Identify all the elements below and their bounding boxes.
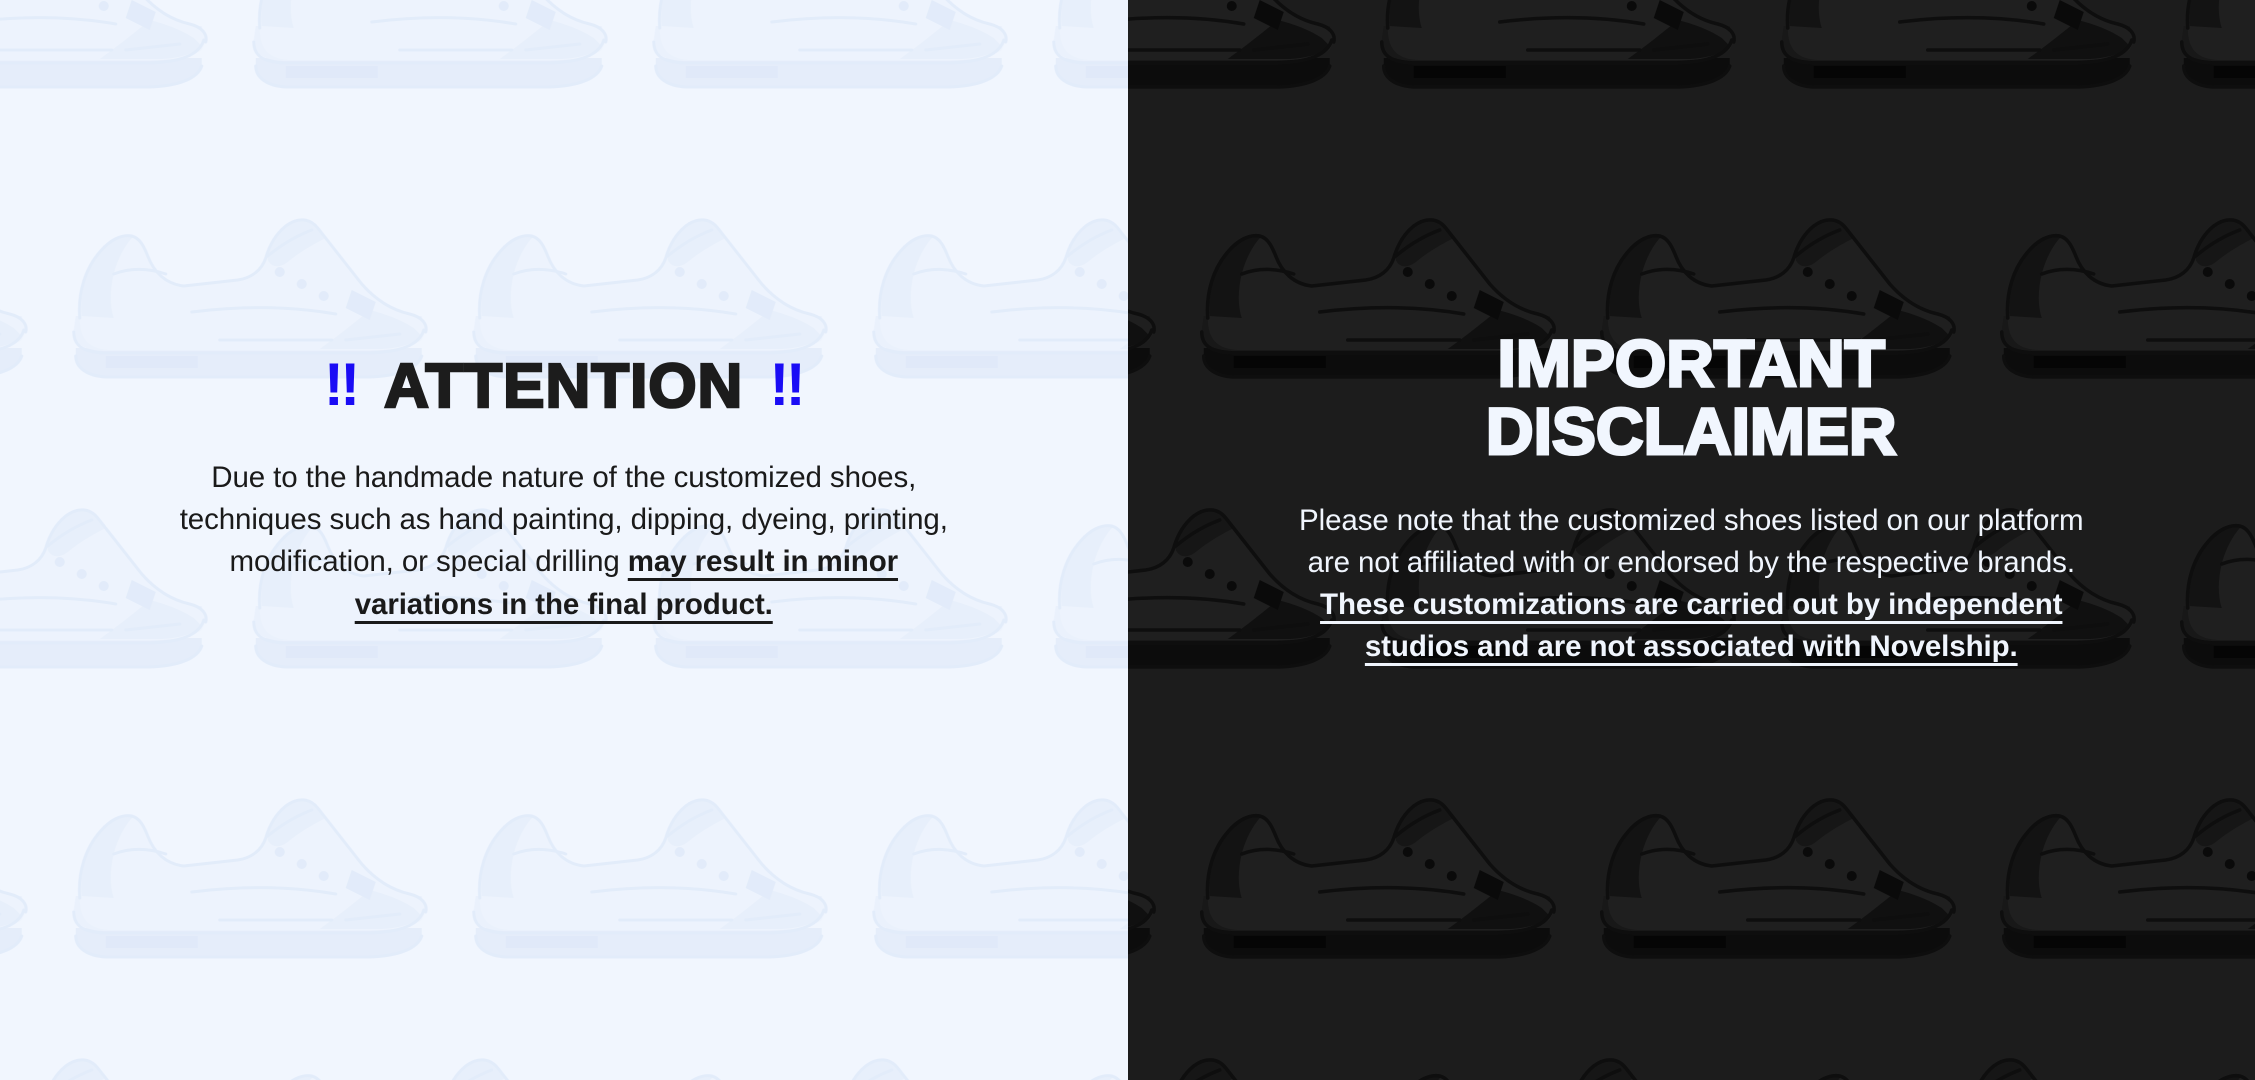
disclaimer-content: IMPORTANT DISCLAIMER Please note that th… (1128, 0, 2255, 669)
disclaimer-body-plain: Please note that the customized shoes li… (1299, 504, 2083, 579)
attention-heading: ‼ ATTENTION ‼ (0, 356, 1128, 418)
disclaimer-heading-line1: IMPORTANT (1498, 326, 1885, 400)
disclaimer-body-emphasis: These customizations are carried out by … (1320, 588, 2062, 663)
disclaimer-body: Please note that the customized shoes li… (1291, 500, 2091, 669)
attention-body: Due to the handmade nature of the custom… (174, 457, 954, 626)
double-exclamation-right-icon: ‼ (769, 355, 803, 415)
disclaimer-heading: IMPORTANT DISCLAIMER (1381, 330, 2001, 466)
disclaimer-heading-line2: DISCLAIMER (1486, 394, 1897, 468)
disclaimer-panel: IMPORTANT DISCLAIMER Please note that th… (1128, 0, 2255, 1080)
attention-panel: ‼ ATTENTION ‼ Due to the handmade nature… (0, 0, 1128, 1080)
disclaimer-banner: ‼ ATTENTION ‼ Due to the handmade nature… (0, 0, 2255, 1080)
attention-content: ‼ ATTENTION ‼ Due to the handmade nature… (0, 0, 1128, 626)
attention-heading-text: ATTENTION (384, 356, 743, 418)
double-exclamation-left-icon: ‼ (324, 355, 358, 415)
